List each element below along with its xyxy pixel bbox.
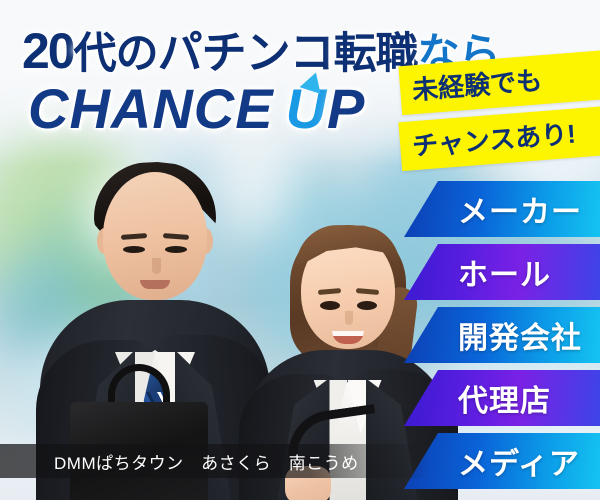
badge-line-1: 未経験でも — [398, 50, 600, 115]
category-item-media[interactable]: メディア — [404, 433, 600, 489]
category-label: 開発会社 — [458, 313, 582, 357]
man-mouth — [140, 280, 170, 289]
category-list: メーカー ホール 開発会社 代理店 メディア — [404, 181, 600, 496]
caption-text: DMMぱちタウン あさくら 南こうめ — [54, 449, 359, 474]
man-eye-right — [165, 246, 187, 253]
category-item-agency[interactable]: 代理店 — [404, 370, 600, 426]
category-label: メディア — [458, 439, 580, 483]
man-eye-left — [123, 246, 145, 253]
caption-bar: DMMぱちタウン あさくら 南こうめ — [0, 444, 430, 478]
category-label: 代理店 — [458, 376, 551, 420]
woman-teeth — [332, 331, 364, 336]
badge-line-2: チャンスあり! — [398, 106, 600, 171]
experience-badge: 未経験でも チャンスあり! — [400, 58, 600, 170]
category-item-hall[interactable]: ホール — [404, 244, 600, 300]
woman-eye-left — [320, 301, 340, 310]
logo-p-letter: P — [327, 77, 365, 140]
recruitment-banner[interactable]: 20代のパチンコ転職なら CHANCEUP 未経験でも チャンスあり! メーカー… — [0, 0, 600, 500]
logo-chance-text: CHANCE — [28, 77, 274, 140]
category-label: ホール — [458, 250, 551, 294]
logo-up-group: UP — [286, 76, 366, 141]
headline-age: 20 — [22, 23, 74, 79]
woman-nose — [345, 311, 353, 325]
category-item-maker[interactable]: メーカー — [404, 181, 600, 237]
man-nose — [152, 258, 161, 274]
headline-age-suffix: 代の — [74, 30, 158, 78]
woman-eye-right — [357, 301, 377, 310]
category-item-developer[interactable]: 開発会社 — [404, 307, 600, 363]
category-label: メーカー — [458, 187, 582, 231]
chance-up-logo: CHANCEUP — [28, 76, 365, 141]
